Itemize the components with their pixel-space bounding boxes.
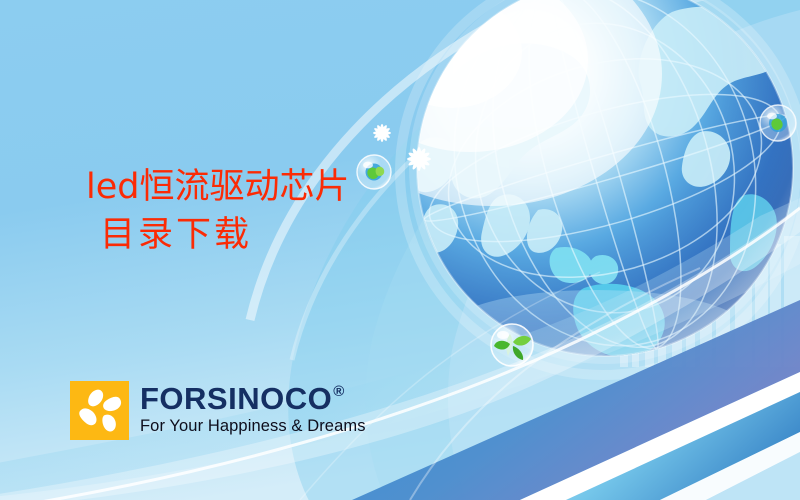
company-logo: FORSINOCO ® For Your Happiness & Dreams: [70, 381, 366, 440]
logo-wordmark-text: FORSINOCO: [140, 383, 332, 414]
bubble-globe-icon: [760, 105, 796, 141]
promo-banner: led恒流驱动芯片 目录下载 FORSINOCO ®: [0, 0, 800, 500]
headline-line-1: led恒流驱动芯片: [86, 163, 349, 211]
bubble-globe-icon: [357, 155, 391, 189]
four-petal-pinwheel-flower-icon: [70, 381, 129, 440]
logo-text-block: FORSINOCO ® For Your Happiness & Dreams: [140, 381, 366, 436]
headline-text: led恒流驱动芯片 目录下载: [86, 163, 349, 259]
headline-line-2: 目录下载: [100, 211, 349, 259]
bubble-sprout-icon: [491, 324, 533, 366]
logo-wordmark: FORSINOCO ®: [140, 383, 366, 414]
registered-trademark-symbol: ®: [333, 384, 345, 399]
logo-tagline: For Your Happiness & Dreams: [140, 417, 366, 436]
logo-mark: [70, 381, 129, 440]
